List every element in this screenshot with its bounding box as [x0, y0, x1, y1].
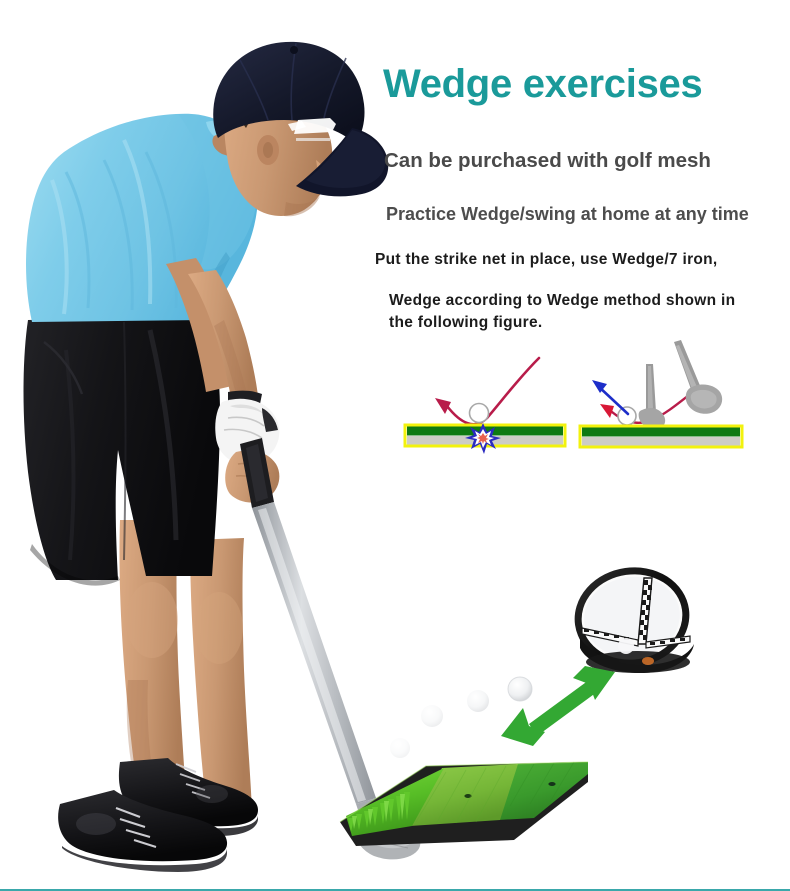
club-position-impact [639, 364, 666, 429]
club-position-finish [674, 340, 722, 414]
wedge-swing-arc-diagram [405, 352, 565, 450]
diagram-mat [580, 426, 742, 447]
body-line-3: Put the strike net in place, use Wedge/7… [375, 251, 718, 269]
net-ball [618, 638, 634, 654]
golfer-photo [0, 20, 390, 860]
page-title: Wedge exercises [383, 62, 783, 107]
golf-hitting-mat-photo [338, 736, 590, 856]
body-line-1: Can be purchased with golf mesh [384, 149, 711, 173]
body-line-5: the following figure. [389, 314, 543, 332]
ball-ghost-2 [421, 705, 443, 727]
wedge-club-path-diagram [580, 340, 742, 450]
swing-arc-arrowhead [435, 398, 451, 414]
tee-hole-2 [548, 782, 555, 786]
body-line-2: Practice Wedge/swing at home at any time [386, 204, 749, 225]
ball-ghost-3 [467, 690, 489, 712]
body-line-4: Wedge according to Wedge method shown in [389, 292, 735, 310]
chipping-net-photo [566, 562, 698, 677]
distance-arrow [493, 666, 621, 746]
diagram-golf-ball [470, 404, 489, 423]
club-path-arrowhead [600, 404, 614, 418]
swing-arc-path [447, 358, 539, 424]
page-root: Wedge exercises Can be purchased with go… [0, 0, 790, 891]
diagram-golf-ball [618, 407, 636, 425]
